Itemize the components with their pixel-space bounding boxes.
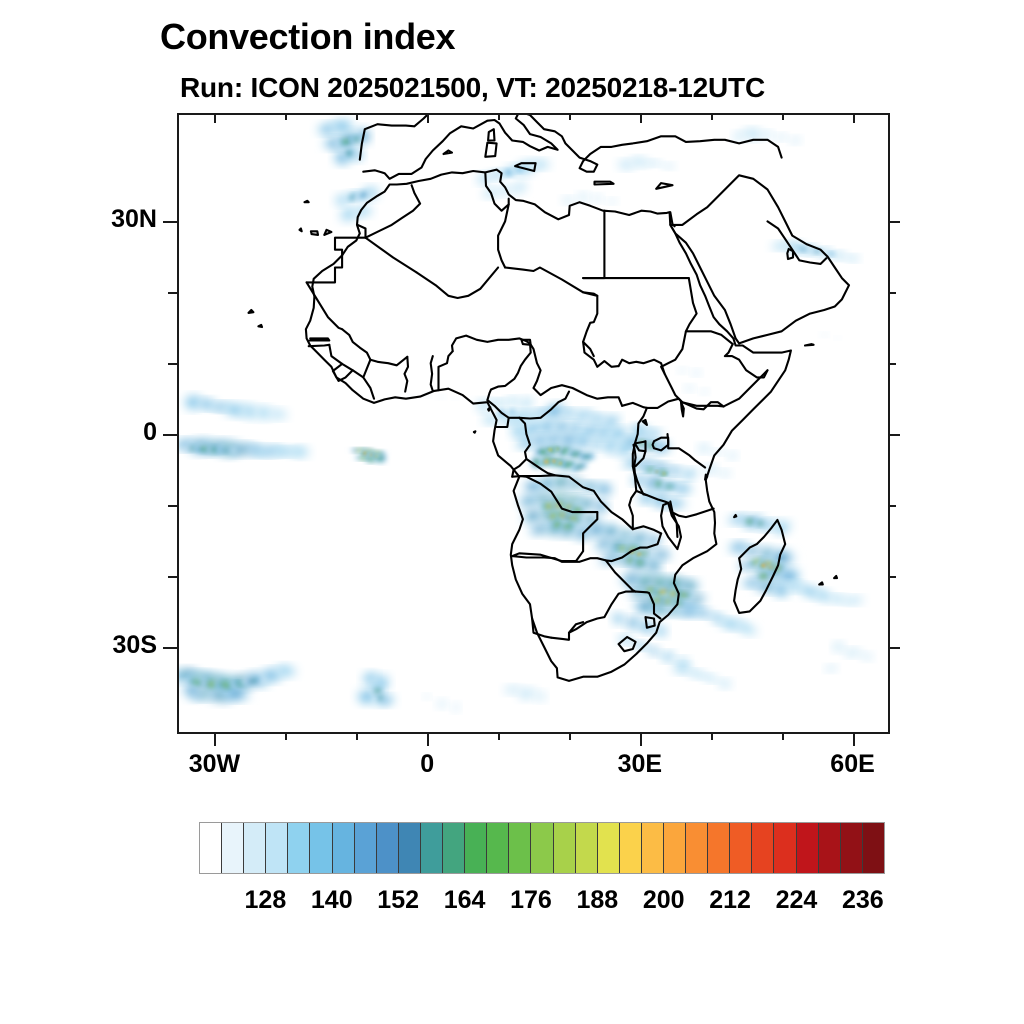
axis-tick	[163, 647, 177, 649]
colorbar-cell	[266, 823, 288, 873]
axis-tick	[168, 363, 177, 365]
axis-tick	[853, 732, 855, 746]
map-plot-area	[177, 113, 890, 734]
colorbar-cell	[730, 823, 752, 873]
colorbar-cell	[554, 823, 576, 873]
run-valid-time-subtitle: Run: ICON 2025021500, VT: 20250218-12UTC	[180, 72, 765, 104]
colorbar-cell	[487, 823, 509, 873]
colorbar-tick-label: 128	[245, 886, 287, 915]
colorbar-cell	[664, 823, 686, 873]
colorbar-cell	[465, 823, 487, 873]
axis-tick	[888, 292, 896, 294]
colorbar-tick-label: 224	[776, 886, 818, 915]
axis-tick	[214, 113, 216, 123]
axis-tick	[285, 113, 287, 120]
x-axis-label: 30W	[189, 750, 240, 779]
colorbar-cell	[863, 823, 884, 873]
axis-tick	[853, 113, 855, 123]
colorbar-cell	[774, 823, 796, 873]
border-path	[300, 229, 302, 232]
colorbar-cell	[819, 823, 841, 873]
axis-tick	[888, 434, 900, 436]
colorbar-tick-label: 188	[576, 886, 618, 915]
colorbar-tick-label: 164	[444, 886, 486, 915]
y-axis-label: 30N	[47, 205, 157, 234]
axis-tick	[168, 576, 177, 578]
x-axis-label: 60E	[830, 750, 874, 779]
colorbar-cell	[222, 823, 244, 873]
border-path	[474, 431, 476, 432]
x-axis-label: 30E	[618, 750, 662, 779]
axis-tick	[640, 732, 642, 746]
colorbar-cell	[399, 823, 421, 873]
border-path	[488, 407, 490, 411]
colorbar-cell	[288, 823, 310, 873]
figure-canvas: Convection index Run: ICON 2025021500, V…	[0, 0, 1024, 1024]
colorbar-cell	[355, 823, 377, 873]
axis-tick	[285, 732, 287, 740]
border-path	[705, 475, 707, 480]
border-path	[834, 576, 837, 578]
colorbar-cell	[531, 823, 553, 873]
colorbar-cell	[310, 823, 332, 873]
axis-tick	[163, 221, 177, 223]
colorbar-tick-label: 152	[377, 886, 419, 915]
colorbar-cell	[620, 823, 642, 873]
axis-tick	[711, 732, 713, 740]
colorbar-tick-label: 200	[643, 886, 685, 915]
colorbar-cell	[708, 823, 730, 873]
colorbar-cell	[752, 823, 774, 873]
axis-tick	[711, 113, 713, 120]
axis-tick	[168, 292, 177, 294]
border-path	[734, 515, 736, 517]
colorbar-cell	[421, 823, 443, 873]
y-axis-label: 0	[47, 418, 157, 447]
x-axis-label: 0	[420, 750, 434, 779]
axis-tick	[168, 505, 177, 507]
axis-tick	[498, 732, 500, 740]
colorbar-tick-label: 236	[842, 886, 884, 915]
colorbar-cell	[509, 823, 531, 873]
axis-tick	[888, 576, 896, 578]
axis-tick	[782, 113, 784, 120]
colorbar-cell	[598, 823, 620, 873]
axis-tick	[888, 505, 896, 507]
page-title: Convection index	[160, 16, 455, 58]
axis-tick	[569, 732, 571, 740]
border-path	[258, 325, 262, 327]
axis-tick	[427, 732, 429, 746]
axis-tick	[888, 363, 896, 365]
colorbar-cell	[841, 823, 863, 873]
colorbar-tick-label: 140	[311, 886, 353, 915]
colorbar-cell	[686, 823, 708, 873]
axis-tick	[888, 647, 900, 649]
colorbar-cell	[797, 823, 819, 873]
colorbar-cell	[200, 823, 222, 873]
border-path	[305, 201, 309, 202]
axis-tick	[214, 732, 216, 746]
axis-tick	[498, 113, 500, 120]
colorbar-cell	[443, 823, 465, 873]
convection-map	[179, 115, 888, 732]
axis-tick	[569, 113, 571, 120]
axis-tick	[782, 732, 784, 740]
colorbar-tick-label: 176	[510, 886, 552, 915]
colorbar-cell	[333, 823, 355, 873]
colorbar-tick-label: 212	[709, 886, 751, 915]
border-path	[310, 338, 330, 340]
colorbar-cell	[377, 823, 399, 873]
colorbar-cell	[642, 823, 664, 873]
axis-tick	[427, 113, 429, 123]
y-axis-label: 30S	[47, 631, 157, 660]
axis-tick	[356, 732, 358, 740]
axis-tick	[163, 434, 177, 436]
axis-tick	[888, 221, 900, 223]
colorbar-cell	[576, 823, 598, 873]
border-path	[805, 344, 814, 345]
colorbar-cell	[244, 823, 266, 873]
colorbar[interactable]	[199, 822, 885, 874]
axis-tick	[356, 113, 358, 120]
axis-tick	[640, 113, 642, 123]
